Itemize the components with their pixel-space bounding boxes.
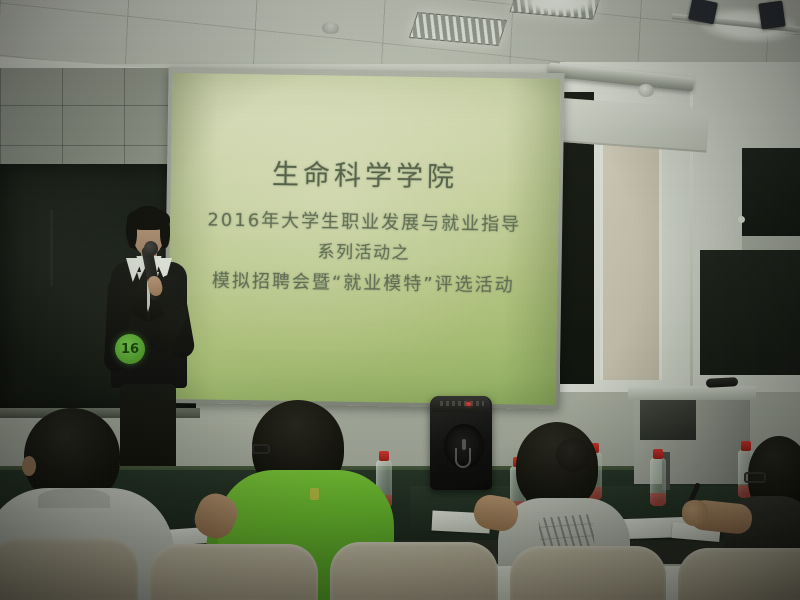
shirt-logo-icon: [310, 488, 319, 500]
projector-screen: 生命科学学院 2016年大学生职业发展与就业指导 系列活动之 模拟招聘会暨“就业…: [167, 73, 560, 405]
badge-number: 16: [121, 342, 139, 357]
slide-subtitle-line-3: 模拟招聘会暨“就业模特”评选活动: [169, 265, 557, 303]
attendee-hand: [682, 500, 708, 526]
water-bottle: [650, 458, 666, 506]
attendee-collar: [38, 488, 110, 508]
chair: [0, 538, 138, 600]
pa-speaker-brand-text: [440, 401, 484, 406]
ceiling-light: [520, 0, 600, 14]
presenter-hair-side: [127, 216, 137, 248]
chair: [330, 542, 498, 600]
lectern-top: [628, 386, 756, 400]
slide-title: 生命科学学院: [171, 151, 560, 196]
lectern-shelf: [640, 398, 696, 440]
chair: [510, 546, 666, 600]
presenter-hair-side: [160, 216, 170, 248]
glasses-icon: [252, 444, 270, 454]
smoke-detector-icon: [322, 21, 340, 34]
attendee-ear: [22, 456, 36, 476]
presenter-trouser-seam: [50, 210, 53, 286]
glasses-icon: [744, 472, 766, 483]
lecture-hall-photo: 生命科学学院 2016年大学生职业发展与就业指导 系列活动之 模拟招聘会暨“就业…: [0, 0, 800, 600]
blackboard: [742, 148, 800, 236]
attendee-hair-bun: [556, 438, 590, 472]
podium-microphone: [706, 377, 738, 388]
track-light-fixture: [758, 0, 785, 29]
light-switch[interactable]: [738, 216, 745, 223]
presenter-number-badge: 16: [115, 334, 145, 364]
slide-subtitle-line-2: 系列活动之: [170, 235, 558, 271]
blackboard: [700, 250, 800, 375]
chair: [678, 548, 800, 600]
slide-subtitle-line-1: 2016年大学生职业发展与就业指导: [170, 204, 558, 242]
slide-content: 生命科学学院 2016年大学生职业发展与就业指导 系列活动之 模拟招聘会暨“就业…: [169, 151, 559, 303]
chair: [150, 544, 318, 600]
power-led-icon: [466, 402, 471, 406]
wall-pillar: [600, 112, 662, 380]
pa-speaker-logo-icon: [455, 448, 471, 468]
